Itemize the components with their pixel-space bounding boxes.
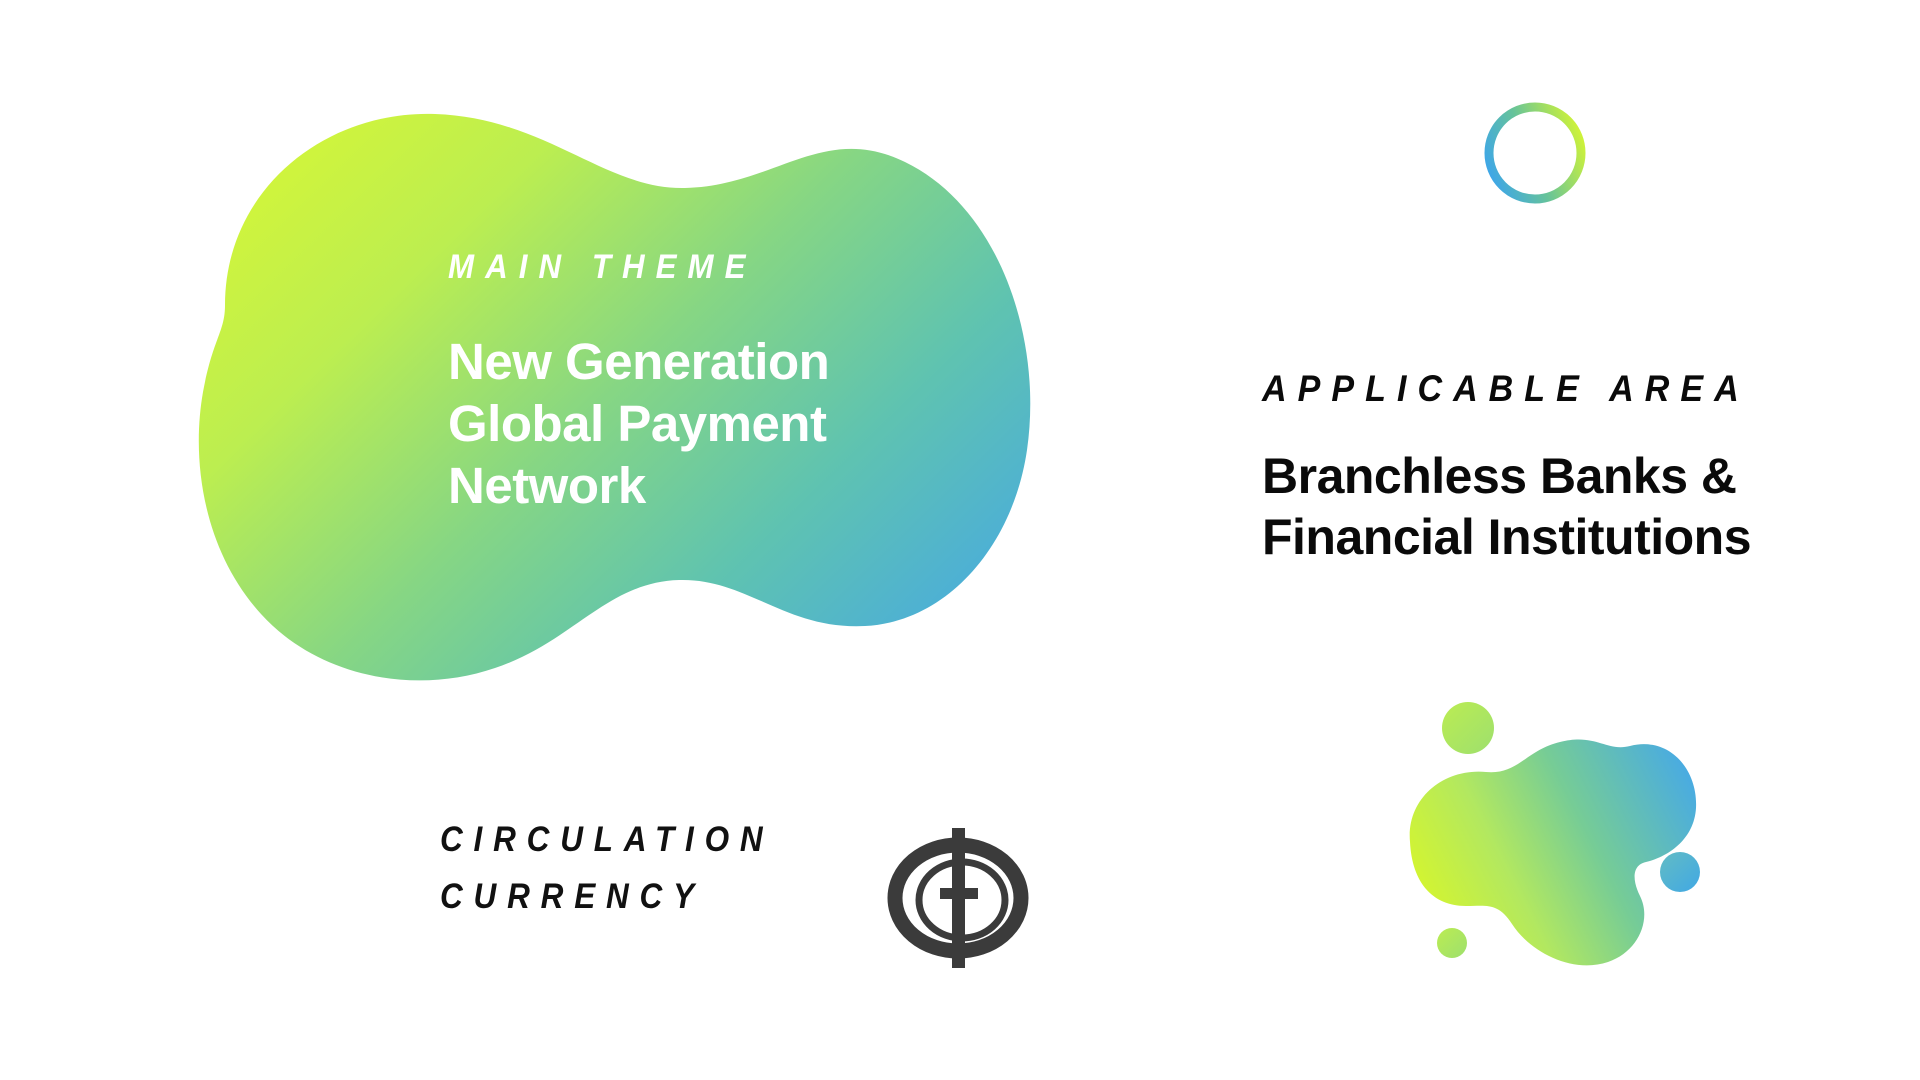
circulation-label-line-1: CIRCULATION — [440, 812, 854, 869]
applicable-area-heading-line-2: Financial Institutions — [1262, 507, 1902, 568]
circulation-label-line-2: CURRENCY — [440, 869, 854, 926]
gradient-blob-cluster — [1400, 690, 1710, 970]
main-theme-text-block: MAIN THEME New Generation Global Payment… — [448, 248, 968, 518]
applicable-area-heading: Branchless Banks & Financial Institution… — [1262, 446, 1902, 568]
main-theme-heading: New Generation Global Payment Network — [448, 331, 968, 518]
main-theme-heading-line-3: Network — [448, 455, 968, 517]
applicable-area-block: APPLICABLE AREA Branchless Banks & Finan… — [1262, 368, 1902, 568]
main-theme-heading-line-1: New Generation — [448, 331, 968, 393]
main-theme-heading-line-2: Global Payment — [448, 393, 968, 455]
gradient-ring-icon — [1480, 98, 1590, 208]
slide-canvas: MAIN THEME New Generation Global Payment… — [0, 0, 1920, 1080]
circulation-currency-block: CIRCULATION CURRENCY — [440, 812, 900, 925]
main-theme-eyebrow: MAIN THEME — [448, 248, 926, 287]
circulation-currency-logo-icon — [880, 818, 1040, 978]
applicable-area-label: APPLICABLE AREA — [1262, 368, 1851, 410]
applicable-area-heading-line-1: Branchless Banks & — [1262, 446, 1902, 507]
